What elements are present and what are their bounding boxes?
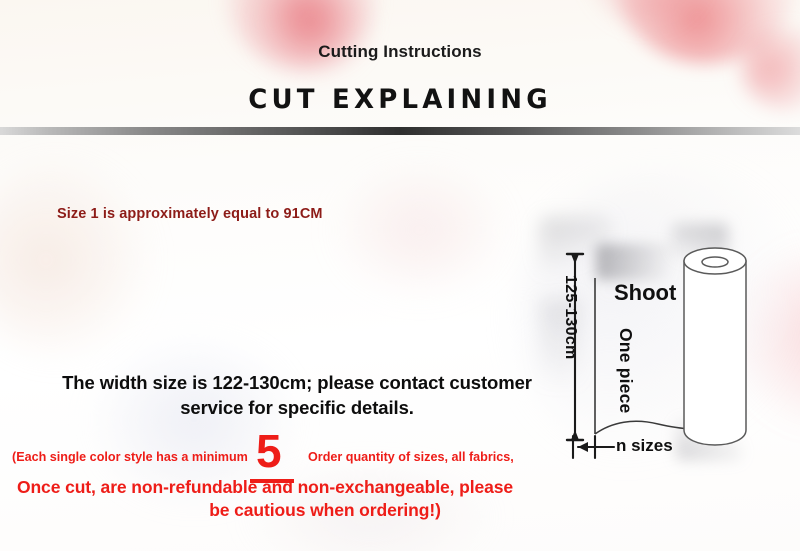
vertical-dimension-label: 125-130cm bbox=[561, 275, 579, 360]
n-sizes-label: n sizes bbox=[616, 436, 673, 456]
warning-line-1: (Each single color style has a minimum 5… bbox=[0, 440, 540, 474]
arrow-up-icon bbox=[571, 254, 579, 264]
page-title: CUT EXPLAINING bbox=[0, 85, 800, 116]
fabric-roll-body bbox=[684, 261, 746, 445]
cutting-instructions-page: Cutting Instructions CUT EXPLAINING Size… bbox=[0, 0, 800, 551]
warning-block: (Each single color style has a minimum 5… bbox=[0, 440, 540, 474]
width-note-line-1: The width size is 122-130cm; please cont… bbox=[62, 372, 444, 393]
fabric-roll-diagram: 125-130cm Shoot One piece n sizes bbox=[540, 218, 800, 480]
width-note: The width size is 122-130cm; please cont… bbox=[62, 370, 532, 420]
fabric-roll-core-ellipse bbox=[702, 257, 728, 267]
floral-watermark-icon bbox=[252, 0, 372, 76]
shoot-label: Shoot bbox=[614, 280, 676, 306]
header-divider bbox=[0, 127, 800, 135]
warning-refund-text: Once cut, are non-refundable and non-exc… bbox=[17, 477, 513, 497]
warning-line-2: Once cut, are non-refundable and non-exc… bbox=[0, 476, 530, 522]
page-subtitle: Cutting Instructions bbox=[0, 42, 800, 62]
minimum-quantity-value: 5 bbox=[256, 428, 281, 474]
warning-caution-text: be cautious when ordering!) bbox=[0, 499, 530, 522]
warning-minimum-suffix: Order quantity of sizes, all fabrics, bbox=[308, 450, 514, 464]
size-conversion-note: Size 1 is approximately equal to 91CM bbox=[57, 206, 323, 222]
floral-watermark-icon bbox=[0, 160, 160, 360]
floral-watermark-icon bbox=[330, 160, 510, 300]
warning-minimum-prefix: (Each single color style has a minimum bbox=[12, 450, 248, 464]
one-piece-label: One piece bbox=[615, 328, 636, 413]
floral-watermark-icon bbox=[586, 0, 706, 22]
arrow-left-icon bbox=[578, 442, 588, 452]
